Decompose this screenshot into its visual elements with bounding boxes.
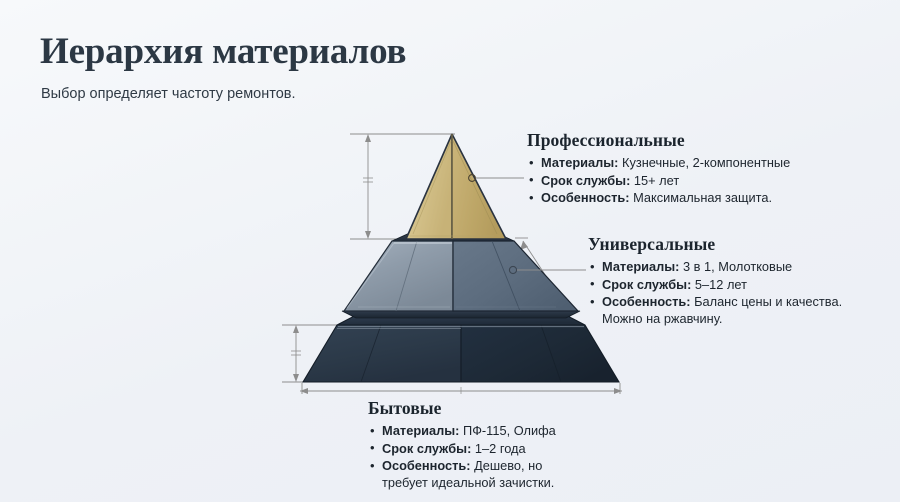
list-item: Материалы: 3 в 1, Молотковые xyxy=(588,259,842,276)
item-value-continued: Можно на ржавчину. xyxy=(602,311,842,328)
block-heading-universal: Универсальные xyxy=(588,234,842,255)
block-list-professional: Материалы: Кузнечные, 2-компонентные Сро… xyxy=(527,155,790,207)
slide-canvas: Иерархия материалов Выбор определяет час… xyxy=(0,0,900,502)
pyramid-tier-bottom[interactable] xyxy=(303,312,619,382)
pyramid-tier-middle-base-plate xyxy=(342,311,580,318)
item-value: 5–12 лет xyxy=(691,277,747,292)
item-label: Особенность: xyxy=(602,294,691,309)
item-value: ПФ-115, Олифа xyxy=(459,423,555,438)
item-value: Кузнечные, 2-компонентные xyxy=(618,155,790,170)
item-label: Материалы: xyxy=(602,259,679,274)
block-heading-household: Бытовые xyxy=(368,398,556,419)
list-item: Срок службы: 5–12 лет xyxy=(588,277,842,294)
item-value: Дешево, но xyxy=(471,458,543,473)
list-item: Особенность: Максимальная защита. xyxy=(527,190,790,207)
block-list-universal: Материалы: 3 в 1, Молотковые Срок службы… xyxy=(588,259,842,327)
item-label: Особенность: xyxy=(382,458,471,473)
list-item: Материалы: Кузнечные, 2-компонентные xyxy=(527,155,790,172)
list-item: Срок службы: 15+ лет xyxy=(527,173,790,190)
item-label: Срок службы: xyxy=(382,441,471,456)
item-label: Срок службы: xyxy=(602,277,691,292)
item-label: Материалы: xyxy=(541,155,618,170)
item-label: Срок службы: xyxy=(541,173,630,188)
item-value: 15+ лет xyxy=(630,173,679,188)
item-label: Материалы: xyxy=(382,423,459,438)
item-label: Особенность: xyxy=(541,190,630,205)
info-block-household: Бытовые Материалы: ПФ-115, Олифа Срок сл… xyxy=(368,398,556,492)
info-block-professional: Профессиональные Материалы: Кузнечные, 2… xyxy=(527,130,790,208)
info-block-universal: Универсальные Материалы: 3 в 1, Молотков… xyxy=(588,234,842,328)
item-value-continued: требует идеальной зачистки. xyxy=(382,475,556,492)
item-value: Баланс цены и качества. xyxy=(691,294,843,309)
list-item: Срок службы: 1–2 года xyxy=(368,441,556,458)
item-value: Максимальная защита. xyxy=(630,190,773,205)
pyramid-tier-middle[interactable] xyxy=(344,232,586,311)
item-value: 1–2 года xyxy=(471,441,525,456)
list-item: Особенность: Баланс цены и качества. Мож… xyxy=(588,294,842,327)
list-item: Особенность: Дешево, но требует идеально… xyxy=(368,458,556,491)
pyramid-tier-top[interactable] xyxy=(404,134,524,239)
block-list-household: Материалы: ПФ-115, Олифа Срок службы: 1–… xyxy=(368,423,556,491)
item-value: 3 в 1, Молотковые xyxy=(679,259,792,274)
block-heading-professional: Профессиональные xyxy=(527,130,790,151)
list-item: Материалы: ПФ-115, Олифа xyxy=(368,423,556,440)
